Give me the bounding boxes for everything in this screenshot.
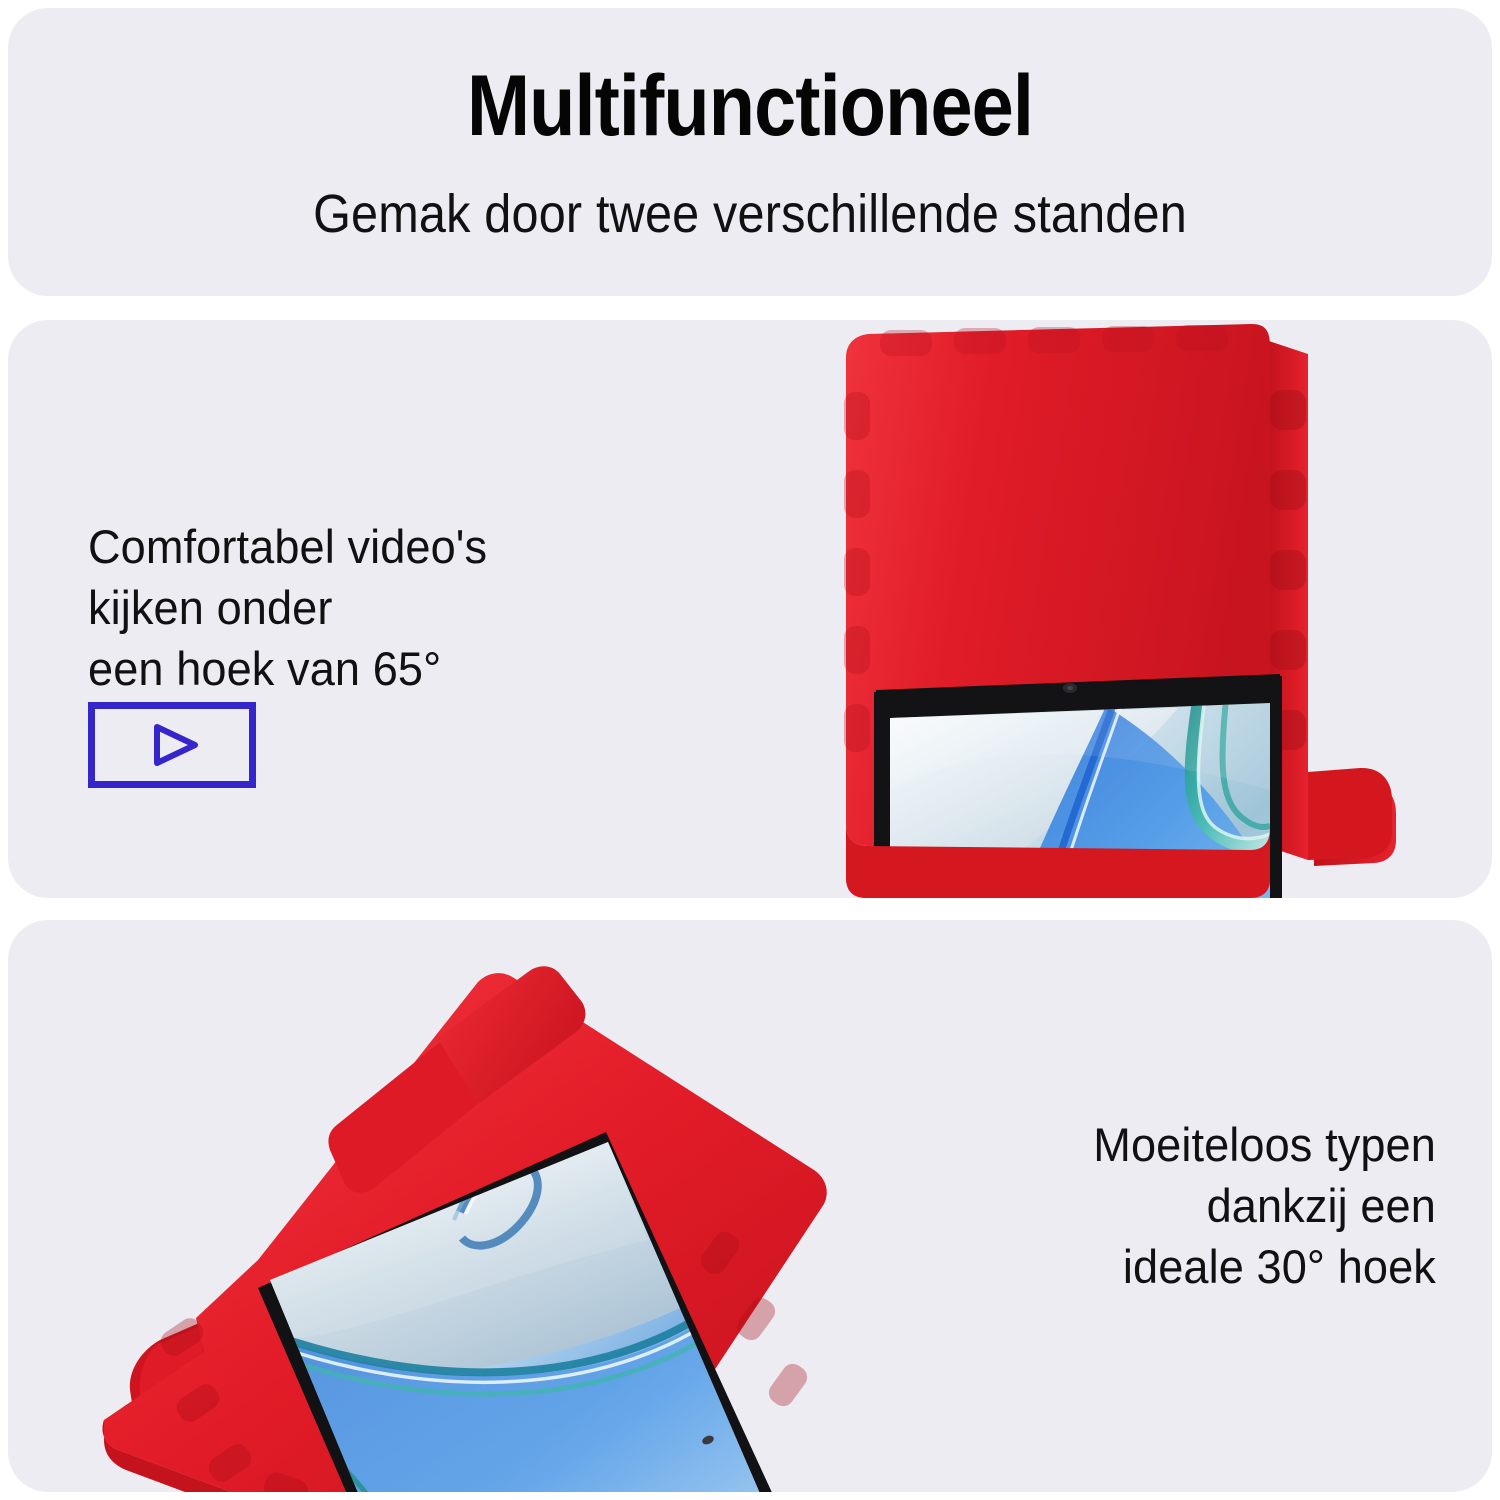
typing-feature-text: Moeiteloos typen dankzij een ideale 30° …: [1093, 1114, 1436, 1297]
video-mode-panel: Comfortabel video's kijken onder een hoe…: [8, 320, 1492, 898]
page-subtitle: Gemak door twee verschillende standen: [82, 186, 1418, 243]
page-title: Multifunctioneel: [97, 63, 1403, 149]
front-camera-lens: [1067, 686, 1073, 690]
kickstand-foot-shadow: [1308, 768, 1392, 860]
play-triangle-icon: [95, 709, 249, 781]
video-play-icon[interactable]: [88, 702, 256, 788]
infographic-page: Multifunctioneel Gemak door twee verschi…: [0, 0, 1500, 1500]
header-panel: Multifunctioneel Gemak door twee verschi…: [8, 8, 1492, 296]
typing-mode-panel: Moeiteloos typen dankzij een ideale 30° …: [8, 920, 1492, 1492]
video-feature-text: Comfortabel video's kijken onder een hoe…: [88, 516, 487, 699]
